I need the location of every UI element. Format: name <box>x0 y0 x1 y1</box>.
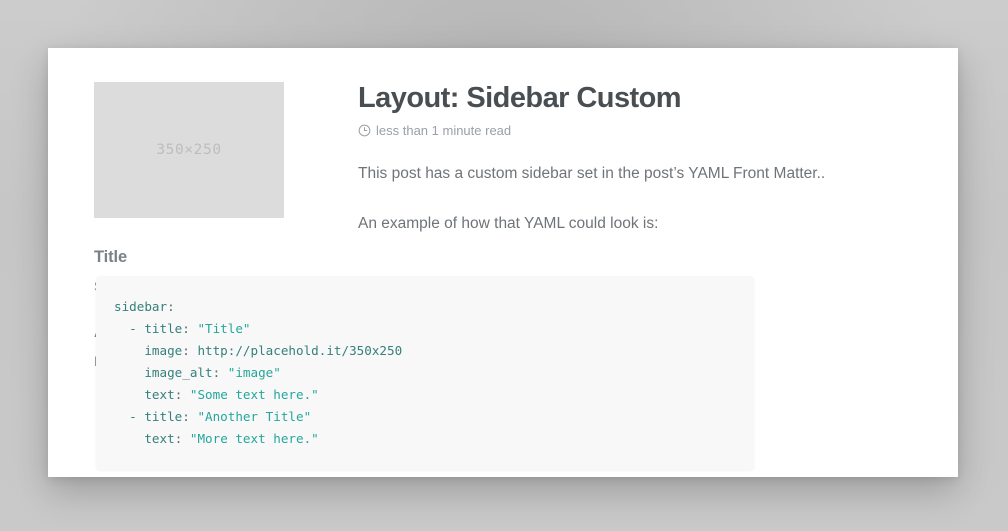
code-token: image <box>144 343 182 358</box>
code-token: text <box>144 387 174 402</box>
article-meta: less than 1 minute read <box>358 123 958 138</box>
code-token <box>114 431 144 446</box>
code-token <box>114 343 144 358</box>
code-line: - title: "Another Title" <box>114 406 754 428</box>
yaml-code-block: sidebar: - title: "Title" image: http://… <box>96 276 754 470</box>
code-token: : <box>175 431 190 446</box>
code-token: : <box>182 321 197 336</box>
sidebar-figure-label: 350×250 <box>156 142 221 158</box>
code-token: : <box>182 343 197 358</box>
clock-icon <box>358 124 371 137</box>
code-token: sidebar <box>114 299 167 314</box>
code-token: - <box>114 409 144 424</box>
code-line: image: http://placehold.it/350x250 <box>114 340 754 362</box>
page-panel: 350×250 TitleSome text here.Another Titl… <box>48 48 958 477</box>
code-token: text <box>144 431 174 446</box>
code-line: - title: "Title" <box>114 318 754 340</box>
code-token: - <box>114 321 144 336</box>
code-token: http://placehold.it/350x250 <box>197 343 402 358</box>
article-paragraph-2: An example of how that YAML could look i… <box>358 212 958 235</box>
page-title: Layout: Sidebar Custom <box>358 82 958 114</box>
code-token: title <box>144 409 182 424</box>
page-inner: 350×250 TitleSome text here.Another Titl… <box>48 48 958 477</box>
code-token: : <box>213 365 228 380</box>
code-line: text: "Some text here." <box>114 384 754 406</box>
code-token <box>114 387 144 402</box>
sidebar-figure-image: 350×250 <box>94 82 284 218</box>
code-token: : <box>175 387 190 402</box>
code-token: image_alt <box>144 365 212 380</box>
code-line: image_alt: "image" <box>114 362 754 384</box>
code-line: sidebar: <box>114 296 754 318</box>
code-token: title <box>144 321 182 336</box>
code-token: : <box>167 299 175 314</box>
sidebar-block-title: Title <box>94 248 286 267</box>
code-token: "Another Title" <box>197 409 311 424</box>
code-token: "Title" <box>197 321 250 336</box>
read-time-label: less than 1 minute read <box>376 123 511 138</box>
code-token: "Some text here." <box>190 387 319 402</box>
article-paragraph-1: This post has a custom sidebar set in th… <box>358 162 958 185</box>
code-token: "More text here." <box>190 431 319 446</box>
code-line: text: "More text here." <box>114 428 754 450</box>
code-token <box>114 365 144 380</box>
code-token: : <box>182 409 197 424</box>
code-token: "image" <box>228 365 281 380</box>
